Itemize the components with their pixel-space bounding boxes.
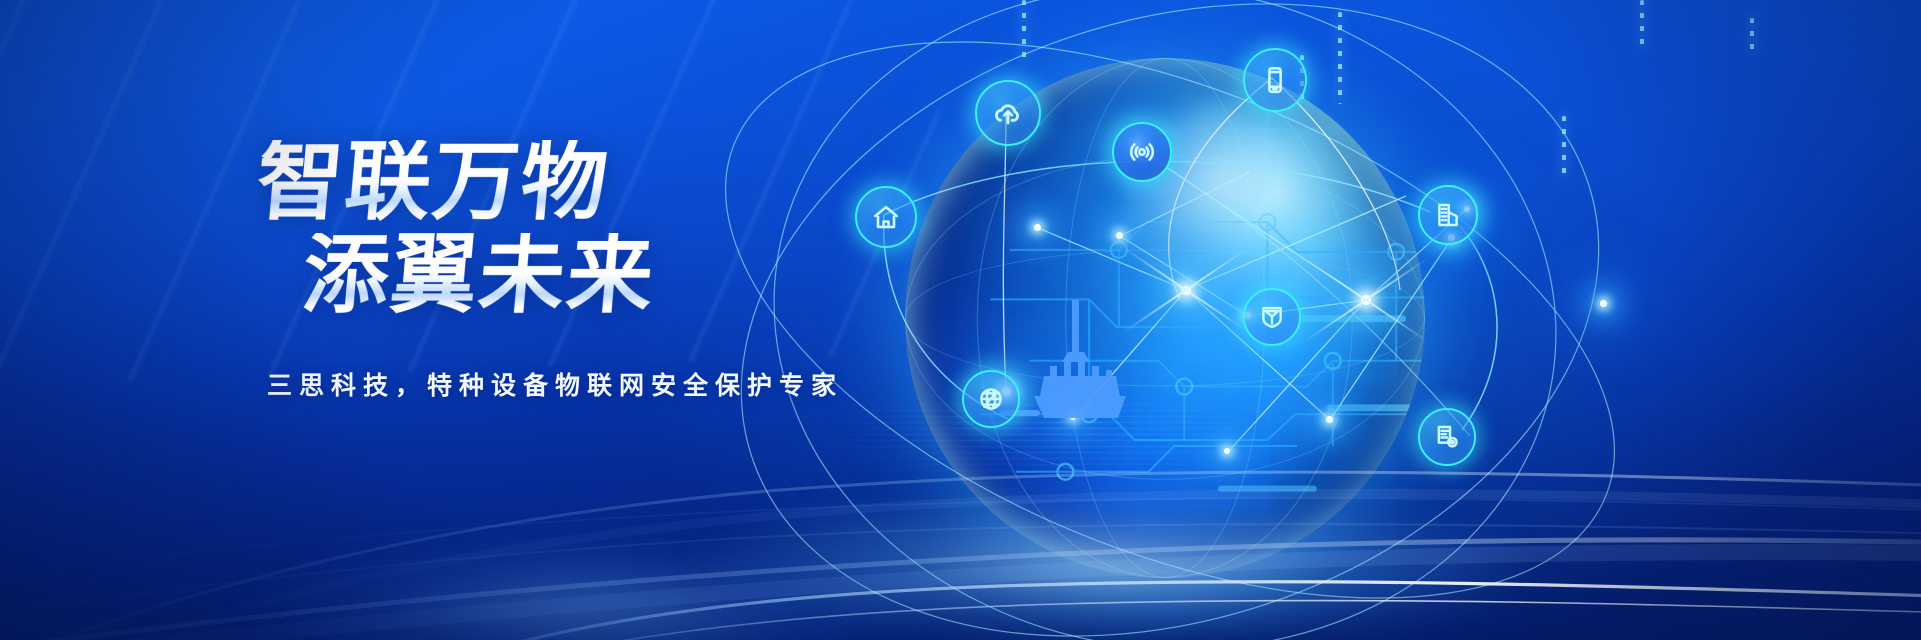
glow-node <box>1116 232 1123 239</box>
hero-subtitle: 三思科技，特种设备物联网安全保护专家 <box>267 366 965 402</box>
hero-banner: 智联万物 添翼未来 三思科技，特种设备物联网安全保护专家 <box>0 0 1921 640</box>
glow-node <box>1182 286 1191 295</box>
building-icon[interactable] <box>1418 185 1478 245</box>
headline-line-1: 智联万物 <box>253 140 968 225</box>
dotted-line <box>1750 18 1754 56</box>
hero-text-block: 智联万物 添翼未来 三思科技，特种设备物联网安全保护专家 <box>245 140 965 402</box>
report-gear-icon[interactable] <box>1418 408 1476 466</box>
shield-icon[interactable] <box>1243 288 1301 346</box>
cargo-ship-silhouette <box>998 300 1158 430</box>
headline-line-2: 添翼未来 <box>299 233 968 318</box>
cloud-upload-icon[interactable] <box>975 80 1041 146</box>
globe-network-icon[interactable] <box>962 370 1020 428</box>
dotted-line <box>1640 0 1644 46</box>
glow-node <box>1600 300 1607 307</box>
glow-node <box>1361 295 1371 305</box>
wifi-signal-icon[interactable] <box>1112 122 1172 182</box>
mobile-phone-icon[interactable] <box>1243 48 1307 112</box>
dotted-line <box>1338 12 1342 104</box>
dotted-line <box>1022 0 1026 64</box>
glow-node <box>1034 224 1041 231</box>
dotted-line <box>1562 116 1566 178</box>
